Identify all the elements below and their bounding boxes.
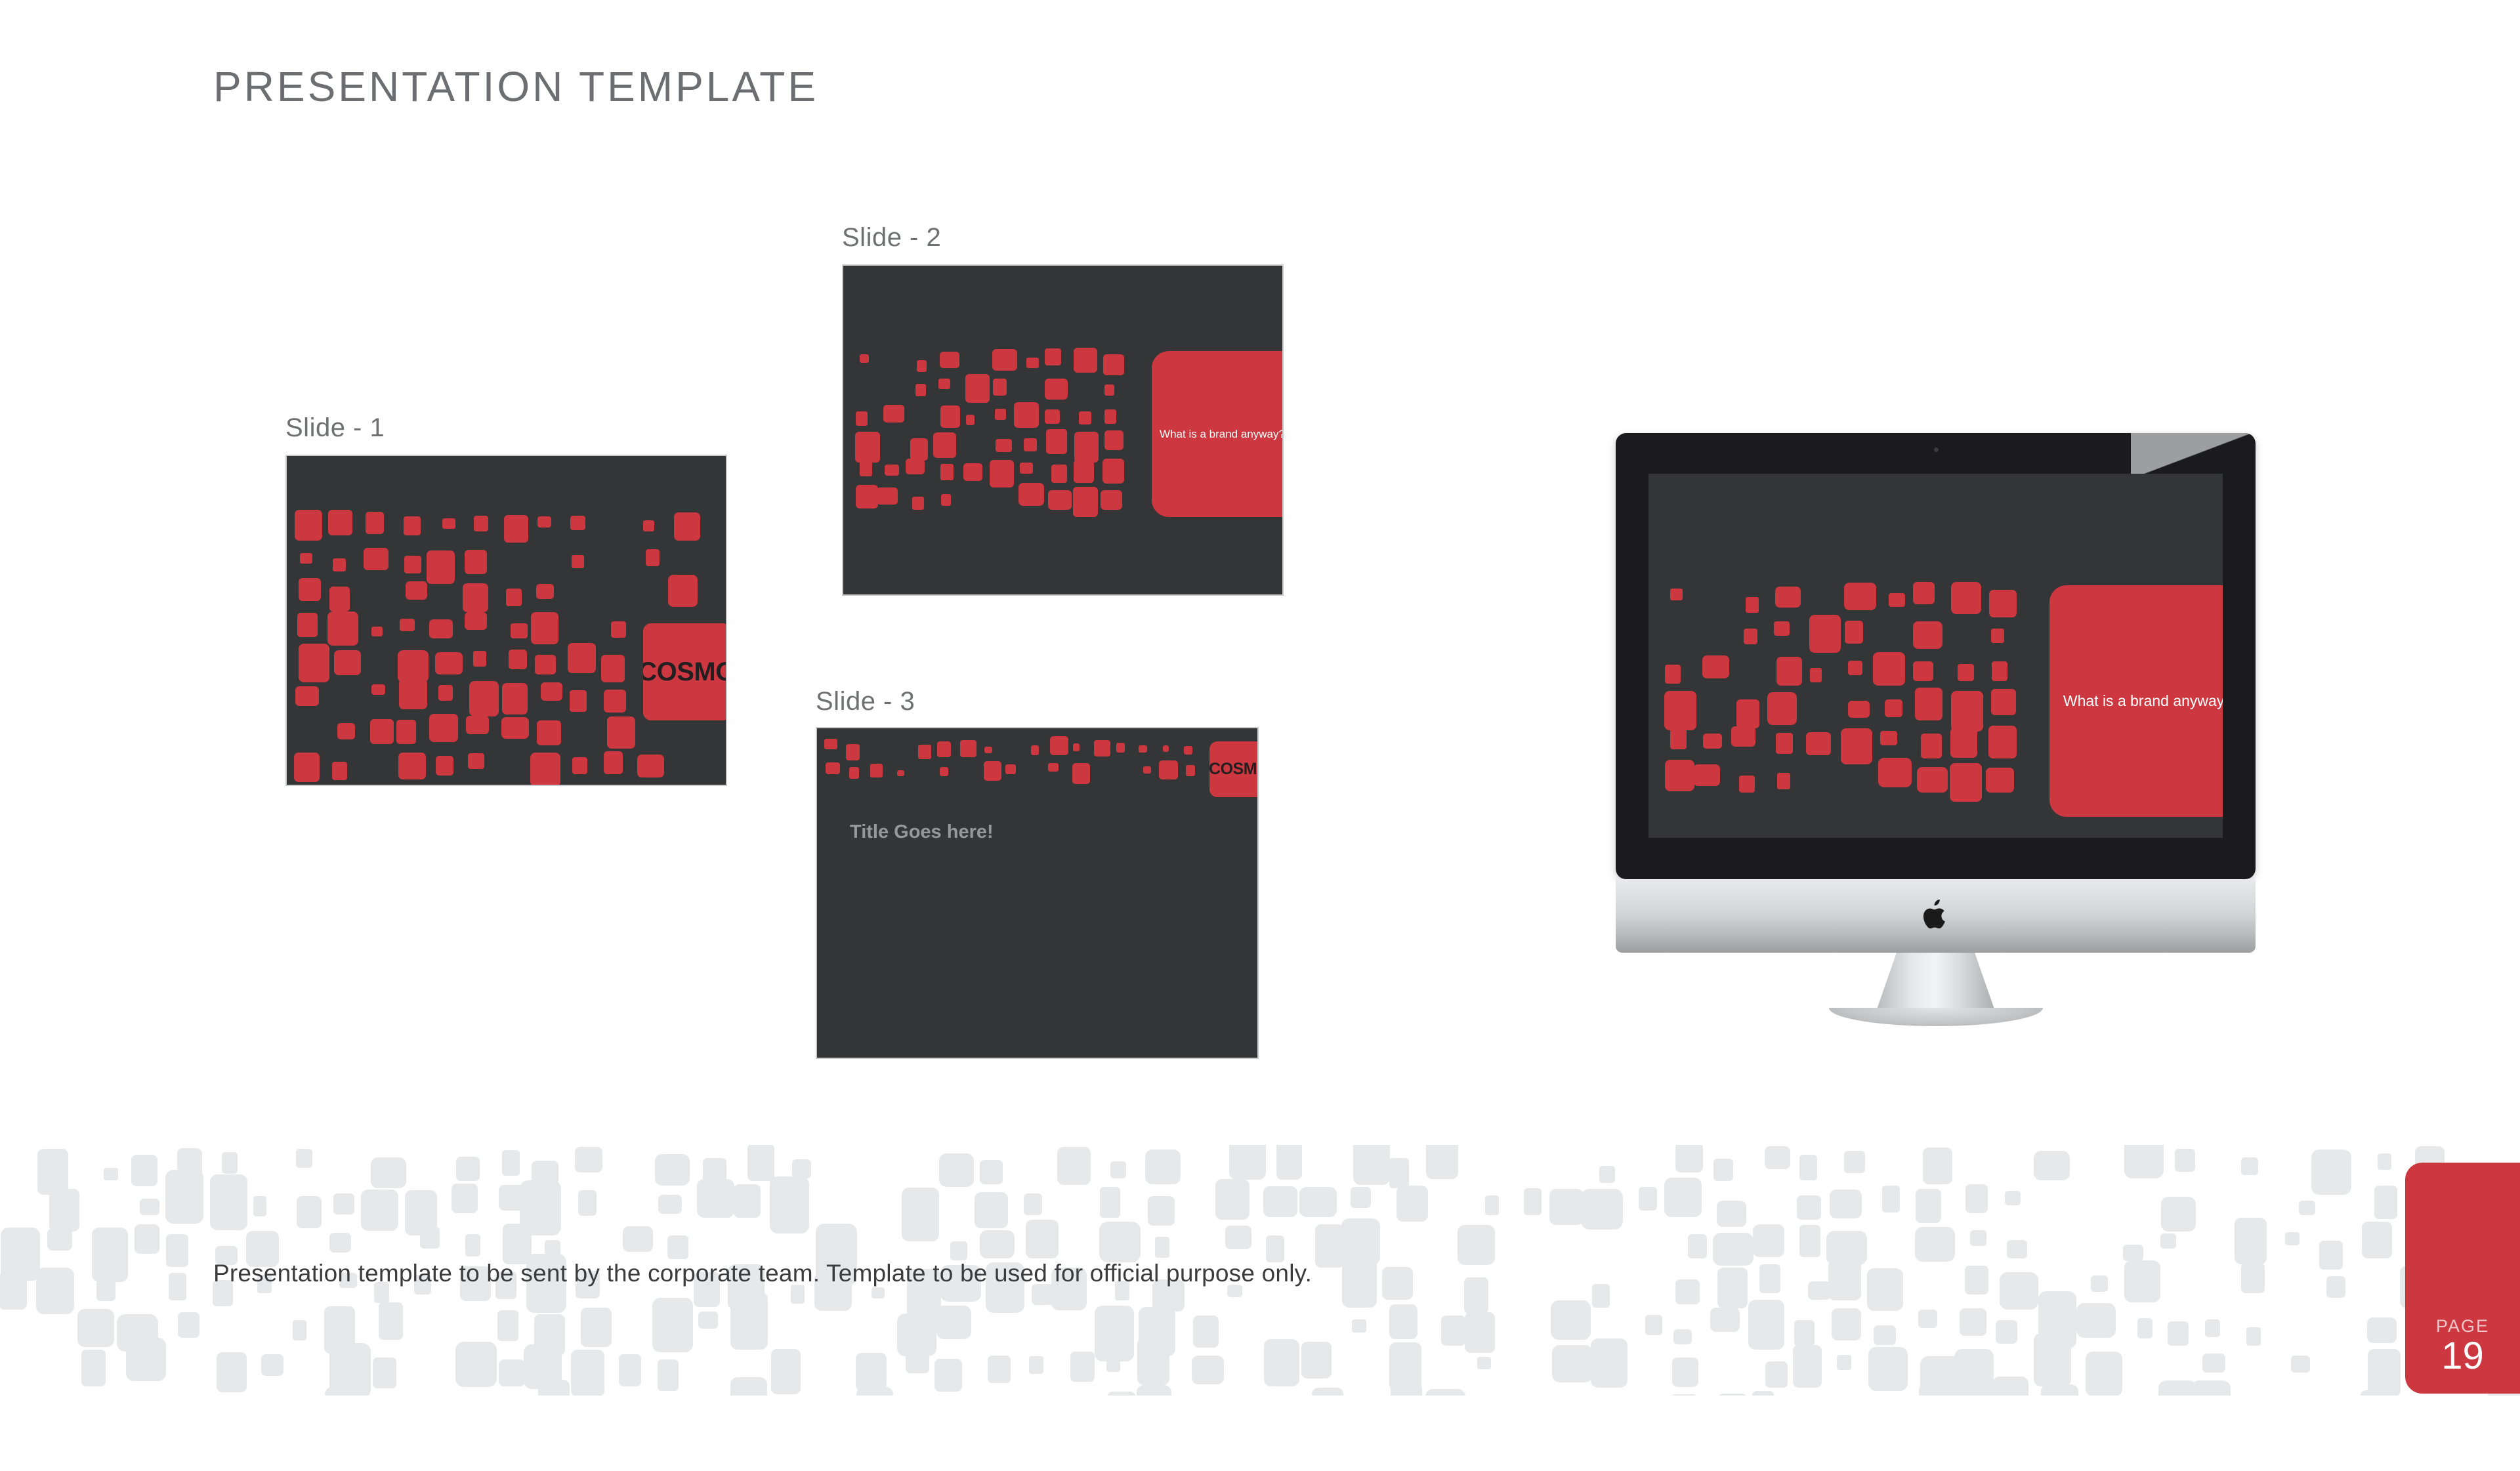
footer-pattern-tile — [1024, 1193, 1042, 1215]
footer-pattern-tile — [2241, 1263, 2265, 1293]
mosaic-tile — [473, 651, 486, 667]
footer-pattern-tile — [1099, 1222, 1141, 1262]
mosaic-tile — [855, 432, 880, 463]
mosaic-tile — [442, 518, 455, 529]
mosaic-tile — [918, 745, 931, 759]
mosaic-tile — [984, 747, 992, 753]
footer-pattern-tile — [792, 1159, 811, 1178]
footer-pattern-tile — [1954, 1349, 1994, 1396]
mosaic-tile — [295, 510, 322, 541]
footer-pattern-tile — [2124, 1260, 2160, 1302]
footer-pattern-tile — [1996, 1320, 2017, 1344]
footer-pattern-tile — [1312, 1388, 1343, 1396]
footer-pattern-tile — [2299, 1201, 2315, 1215]
mosaic-tile — [856, 485, 878, 508]
mosaic-tile — [1744, 629, 1757, 644]
mosaic-tile — [1878, 758, 1912, 787]
mosaic-tile — [1045, 379, 1068, 400]
mosaic-tile — [468, 753, 484, 769]
footer-pattern-tile — [2202, 1354, 2225, 1373]
mosaic-tile — [1986, 768, 2014, 793]
footer-pattern-tile — [325, 1387, 361, 1396]
footer-pattern-tile — [1485, 1195, 1499, 1215]
mosaic-tile — [1693, 764, 1720, 786]
mosaic-tile — [502, 683, 528, 715]
footer-pattern-tile — [1713, 1233, 1753, 1266]
mosaic-tile — [1094, 740, 1110, 756]
footer-pattern-tile — [2034, 1333, 2071, 1386]
mosaic-tile — [399, 679, 427, 709]
footer-pattern-tile — [253, 1196, 266, 1216]
mosaic-tile — [846, 744, 860, 760]
mosaic-tile — [1665, 665, 1681, 684]
mosaic-tile — [572, 555, 584, 568]
footer-pattern-tile — [329, 1233, 351, 1253]
footer-pattern-tile — [2246, 1327, 2261, 1346]
mosaic-tile — [1810, 668, 1822, 682]
footer-pattern-tile — [1193, 1316, 1219, 1348]
footer-pattern-tile — [2175, 1149, 2195, 1172]
footer-pattern-tile — [2086, 1352, 2122, 1396]
footer-pattern-tile — [1425, 1389, 1465, 1396]
mosaic-tile — [604, 690, 626, 713]
footer-pattern-tile — [1830, 1190, 1862, 1218]
mosaic-tile — [436, 756, 453, 776]
mosaic-tile — [300, 553, 312, 564]
mosaic-tile — [1921, 734, 1942, 758]
footer-pattern-tile — [1155, 1237, 1169, 1258]
mosaic-tile — [1024, 438, 1037, 451]
footer-pattern-tile — [1592, 1284, 1610, 1308]
mosaic-tile — [1074, 460, 1094, 483]
mosaic-tile — [992, 349, 1017, 371]
footer-pattern-tile — [1263, 1186, 1297, 1217]
mosaic-tile — [990, 460, 1014, 487]
footer-pattern-tile — [1106, 1359, 1120, 1372]
footer-pattern-tile — [178, 1312, 199, 1338]
mosaic-tile — [933, 432, 956, 458]
mosaic-tile — [856, 411, 868, 426]
footer-pattern-tile — [2191, 1380, 2231, 1396]
mosaic-tile — [1074, 348, 1097, 373]
footer-pattern-tile — [1965, 1266, 1988, 1295]
footer-pattern-tile — [1458, 1225, 1495, 1265]
mosaic-tile — [1184, 746, 1192, 755]
footer-pattern-tile — [1029, 1356, 1043, 1374]
footer-pattern-tile — [1868, 1347, 1908, 1391]
mosaic-tile — [860, 354, 869, 363]
imac-screen[interactable]: What is a brand anyway? — [1648, 474, 2223, 838]
footer-pattern-tile — [297, 1196, 322, 1228]
footer-pattern-tile — [1107, 1392, 1136, 1396]
mosaic-tile — [1101, 490, 1122, 510]
mosaic-tile — [541, 682, 562, 701]
footer-pattern-tile — [0, 1272, 27, 1310]
footer-pattern-tile — [420, 1227, 440, 1249]
mosaic-tile — [824, 739, 837, 749]
mosaic-tile — [1050, 736, 1068, 755]
footer-pattern-tile — [2041, 1384, 2078, 1396]
footer-pattern-tile — [2362, 1222, 2392, 1258]
mosaic-tile — [537, 516, 551, 528]
footer-pattern-tile — [1389, 1158, 1409, 1188]
footer-pattern-tile — [1477, 1357, 1491, 1369]
footer-pattern-tile — [140, 1199, 159, 1215]
footer-pattern-tile — [2311, 1150, 2351, 1195]
mosaic-tile — [1046, 429, 1067, 454]
mosaic-tile — [912, 497, 924, 510]
footer-pattern-tile — [2137, 1318, 2152, 1338]
cosmo-logo-text: COSMO — [643, 657, 727, 687]
footer-pattern-tile — [81, 1350, 106, 1386]
mosaic-tile — [511, 623, 528, 638]
footer-pattern-tile — [734, 1184, 761, 1218]
footer-pattern-tile — [697, 1179, 734, 1218]
footer-pattern-tile — [2123, 1245, 2143, 1261]
mosaic-tile — [568, 643, 596, 673]
footer-pattern-tile — [1353, 1145, 1390, 1185]
footer-pattern-tile — [2160, 1233, 2176, 1249]
mosaic-tile — [1992, 661, 2007, 681]
mosaic-tile — [295, 686, 319, 706]
footer-pattern-tile — [1581, 1189, 1623, 1230]
footer-pattern-tile — [1717, 1201, 1746, 1227]
mosaic-tile — [1777, 773, 1790, 789]
mosaic-tile — [1991, 689, 2016, 715]
footer-pattern-tile — [361, 1190, 398, 1231]
footer-pattern-tile — [2367, 1317, 2397, 1343]
footer-pattern-tile — [1342, 1258, 1377, 1308]
imac-stand-foot — [1829, 1008, 2043, 1026]
mosaic-tile — [1664, 691, 1696, 730]
mosaic-tile — [404, 556, 421, 573]
footer-pattern-tile — [1844, 1151, 1865, 1173]
mosaic-tile — [674, 512, 700, 541]
mosaic-tile — [917, 360, 927, 372]
footer-pattern-tile — [975, 1192, 1008, 1228]
footer-pattern-tile — [1057, 1147, 1091, 1185]
footer-pattern-tile — [1639, 1187, 1657, 1211]
footer-pattern-tile — [1026, 1220, 1059, 1258]
footer-pattern-tile — [1759, 1264, 1780, 1293]
mosaic-tile — [1917, 767, 1948, 793]
footer-pattern-tile — [96, 1280, 115, 1301]
footer-pattern-tile — [538, 1380, 570, 1396]
mosaic-tile — [1018, 483, 1044, 506]
mosaic-tile — [637, 755, 664, 777]
footer-pattern-tile — [658, 1195, 682, 1214]
footer-pattern-tile — [2076, 1303, 2116, 1338]
footer-pattern-tile — [497, 1310, 518, 1341]
footer-pattern-tile — [902, 1188, 939, 1241]
mosaic-tile — [601, 655, 625, 682]
mosaic-tile — [960, 740, 976, 757]
footer-pattern-tile — [104, 1168, 118, 1180]
footer-pattern-tile — [791, 1285, 805, 1304]
mosaic-tile — [870, 764, 883, 777]
footer-pattern-tile — [771, 1349, 801, 1394]
footer-pattern-tile — [2241, 1157, 2258, 1175]
footer-pattern-tile — [2361, 1390, 2386, 1396]
footer-pattern-tile — [1552, 1345, 1593, 1382]
mosaic-tile — [860, 461, 872, 476]
footer-pattern-tile — [652, 1298, 693, 1352]
mosaic-tile — [406, 581, 427, 600]
mosaic-tile — [1844, 583, 1876, 610]
mosaic-tile — [1048, 490, 1072, 510]
brand-question-text: What is a brand anyway? — [1160, 428, 1284, 441]
mosaic-tile — [469, 681, 499, 716]
mosaic-tile — [429, 619, 453, 638]
footer-pattern-tile — [936, 1306, 971, 1339]
footer-pattern-tile — [1145, 1150, 1181, 1184]
mosaic-tile — [965, 374, 990, 403]
mosaic-tile — [941, 494, 951, 506]
footer-pattern-tile — [1832, 1308, 1861, 1340]
mosaic-tile — [1702, 655, 1729, 678]
footer-pattern-tile — [730, 1292, 768, 1350]
page-label: PAGE — [2436, 1316, 2489, 1336]
mosaic-tile — [643, 520, 654, 531]
footer-pattern-tile — [2205, 1319, 2220, 1337]
mosaic-tile — [1045, 348, 1061, 365]
mosaic-tile — [646, 549, 660, 566]
footer-pattern-tile — [730, 1377, 767, 1396]
mosaic-tile — [327, 611, 358, 646]
imac-brand-panel: What is a brand anyway? — [2049, 585, 2223, 817]
footer-pattern-tile — [1710, 1308, 1740, 1332]
footer-pattern-tile — [658, 1359, 679, 1391]
mosaic-tile — [1951, 582, 1981, 614]
mosaic-tile — [1841, 728, 1872, 764]
footer-pattern-tile — [1713, 1159, 1733, 1181]
mosaic-tile — [570, 516, 585, 530]
mosaic-tile — [1026, 358, 1039, 368]
footer-pattern-tile — [1551, 1300, 1591, 1340]
mosaic-tile — [531, 612, 558, 644]
imac-brand-text: What is a brand anyway? — [2063, 692, 2223, 710]
footer-pattern-tile — [1591, 1338, 1627, 1388]
footer-pattern-tile — [1828, 1260, 1861, 1300]
mosaic-tile — [536, 584, 554, 599]
footer-pattern-tile — [871, 1287, 885, 1298]
mosaic-tile — [1045, 409, 1060, 424]
mosaic-tile — [537, 720, 561, 745]
footer-pattern-tile — [1670, 1394, 1698, 1396]
footer-pattern-tile — [667, 1235, 688, 1259]
mosaic-tile — [474, 516, 488, 531]
footer-pattern-tile — [2168, 1321, 2189, 1346]
footer-pattern-tile — [747, 1145, 774, 1181]
mosaic-tile — [897, 770, 904, 776]
mosaic-tile — [370, 719, 394, 744]
mosaic-tile — [570, 690, 587, 712]
mosaic-tile — [1736, 699, 1759, 728]
mosaic-tile — [1776, 657, 1802, 686]
mosaic-tile — [1670, 589, 1683, 600]
mosaic-tile — [1051, 465, 1067, 483]
footer-pattern-tile — [210, 1174, 247, 1230]
footer-pattern-tile — [1808, 1281, 1831, 1300]
mosaic-tile — [1116, 743, 1125, 753]
footer-pattern-tile — [1276, 1145, 1302, 1180]
footer-pattern-tile — [1916, 1189, 1941, 1223]
footer-pattern-tile — [1673, 1329, 1692, 1344]
mosaic-tile — [826, 762, 840, 774]
mosaic-tile — [1913, 621, 1942, 649]
footer-pattern-tile — [455, 1342, 497, 1387]
cosmo-logo-text-slide3: COSMO — [1209, 760, 1259, 779]
cosmo-logo-box: COSMO — [643, 623, 727, 720]
mosaic-tile — [1031, 745, 1039, 755]
mosaic-tile — [465, 550, 487, 574]
mosaic-tile — [993, 379, 1007, 396]
footer-pattern-tile — [1675, 1145, 1703, 1172]
footer-pattern-tile — [371, 1157, 406, 1188]
mosaic-tile — [966, 415, 975, 425]
footer-pattern-tile — [1137, 1385, 1171, 1396]
mosaic-tile — [1885, 699, 1902, 717]
footer-pattern-tile — [619, 1354, 641, 1386]
footer-pattern-tile — [293, 1320, 306, 1340]
footer-pattern-tile — [1915, 1227, 1955, 1262]
footer-pattern-tile — [1753, 1224, 1784, 1257]
imac-mockup: What is a brand anyway? — [1616, 433, 2256, 951]
footer-pattern-tile — [1965, 1184, 1988, 1213]
mosaic-tile — [1143, 766, 1151, 774]
footer-pattern-tile — [1748, 1300, 1784, 1350]
mosaic-tile — [400, 619, 415, 631]
footer-pattern-tile — [1918, 1310, 1937, 1328]
mosaic-tile — [1104, 430, 1123, 450]
slide-thumbnail-2[interactable]: What is a brand anyway? — [842, 264, 1284, 596]
footer-pattern-tile — [499, 1359, 525, 1386]
footer-pattern-tile — [1465, 1312, 1495, 1353]
mosaic-tile — [404, 516, 421, 535]
mosaic-tile — [333, 558, 346, 571]
footer-pattern-tile — [2007, 1240, 2027, 1258]
footer-pattern-tile — [1867, 1268, 1903, 1311]
mosaic-tile — [1848, 701, 1870, 718]
mosaic-tile — [1159, 760, 1178, 779]
mosaic-tile — [1746, 597, 1759, 613]
footer-pattern-tile — [1688, 1234, 1707, 1258]
mosaic-tile — [398, 650, 429, 682]
mosaic-tile — [509, 650, 527, 669]
mosaic-tile — [940, 464, 954, 480]
slide-1-label: Slide - 1 — [285, 413, 385, 443]
footer-pattern-tile — [261, 1354, 283, 1376]
mosaic-tile — [297, 613, 318, 637]
mosaic-tile — [611, 621, 626, 638]
mosaic-tile — [996, 439, 1012, 452]
mosaic-tile — [1073, 487, 1098, 517]
mosaic-tile — [668, 575, 698, 607]
mosaic-tile — [1048, 763, 1059, 772]
footer-pattern-tile — [1752, 1391, 1774, 1396]
mosaic-tile — [604, 751, 623, 774]
footer-pattern-tile — [698, 1312, 718, 1329]
mosaic-tile — [1958, 664, 1974, 681]
footer-pattern-tile — [1874, 1325, 1896, 1345]
footer-pattern-tile — [1301, 1342, 1332, 1378]
footer-pattern-tile — [1266, 1235, 1284, 1262]
footer-pattern-tile — [49, 1189, 79, 1232]
footer-pattern-tile — [1882, 1186, 1900, 1212]
mosaic-tile — [294, 753, 320, 782]
footer-pattern-tile — [1070, 1352, 1095, 1382]
footer-pattern-tile — [36, 1268, 74, 1314]
footer-pattern-tile — [581, 1308, 612, 1347]
mosaic-tile — [1020, 463, 1033, 474]
footer-pattern-tile — [77, 1309, 114, 1347]
mosaic-tile — [1806, 732, 1831, 755]
mosaic-tile — [366, 512, 384, 534]
mosaic-tile — [504, 515, 528, 543]
footer-pattern-tile — [1675, 1279, 1700, 1304]
mosaic-tile — [1889, 593, 1905, 607]
mosaic-tile — [429, 714, 458, 742]
footer-pattern-tile — [1110, 1161, 1126, 1178]
mosaic-tile — [1074, 432, 1099, 463]
footer-pattern-tile — [296, 1149, 312, 1168]
footer-pattern-tile — [2319, 1241, 2343, 1270]
mosaic-tile — [530, 753, 560, 786]
footer-pattern-tile — [2005, 1191, 2021, 1205]
slide-2-label: Slide - 2 — [842, 223, 941, 253]
footer-pattern-tile — [1426, 1145, 1458, 1179]
footer-pattern-tile — [950, 1241, 967, 1260]
mosaic-tile — [1991, 629, 2004, 643]
footer-pattern-tile — [655, 1154, 690, 1186]
mosaic-tile — [1950, 763, 1982, 802]
footer-pattern-tile — [1765, 1146, 1790, 1169]
mosaic-tile — [1845, 621, 1863, 644]
brand-question-panel: What is a brand anyway? — [1152, 351, 1284, 517]
footer-pattern-tile — [1923, 1148, 1952, 1184]
footer-pattern-tile — [217, 1352, 247, 1392]
footer-pattern-tile — [578, 1190, 597, 1216]
footer-pattern-tile — [1992, 1377, 2028, 1396]
footer-pattern-tile — [1382, 1267, 1413, 1300]
mosaic-tile — [1989, 590, 2017, 617]
footer-pattern-tile — [1717, 1268, 1748, 1308]
mosaic-tile — [1703, 734, 1722, 749]
footer-pattern-tile — [222, 1152, 238, 1174]
mosaic-tile — [1809, 615, 1841, 653]
footer-pattern-tile — [1389, 1304, 1417, 1339]
mosaic-tile — [1102, 459, 1124, 484]
mosaic-tile — [1670, 729, 1687, 749]
mosaic-tile — [1186, 765, 1195, 776]
footer-pattern-tile — [333, 1193, 354, 1214]
slide-thumbnail-3[interactable]: COSMO Title Goes here! — [816, 727, 1259, 1059]
mosaic-tile — [535, 655, 556, 674]
footer-pattern-tile — [856, 1387, 893, 1396]
slide-thumbnail-1[interactable]: COSMO — [285, 455, 727, 786]
mosaic-tile — [1104, 384, 1114, 396]
footer-pattern-tile — [126, 1338, 166, 1381]
footer-pattern-tile — [37, 1149, 68, 1195]
footer-pattern-tile — [1970, 1230, 1986, 1246]
mosaic-tile — [572, 757, 587, 774]
footer-pattern-tile — [1793, 1345, 1822, 1388]
footer-pattern-tile — [980, 1230, 1015, 1258]
mosaic-tile — [329, 587, 350, 611]
footer-pattern-tile — [1100, 1187, 1120, 1218]
mosaic-tile — [607, 716, 635, 749]
footer-pattern-tile — [1717, 1394, 1748, 1396]
